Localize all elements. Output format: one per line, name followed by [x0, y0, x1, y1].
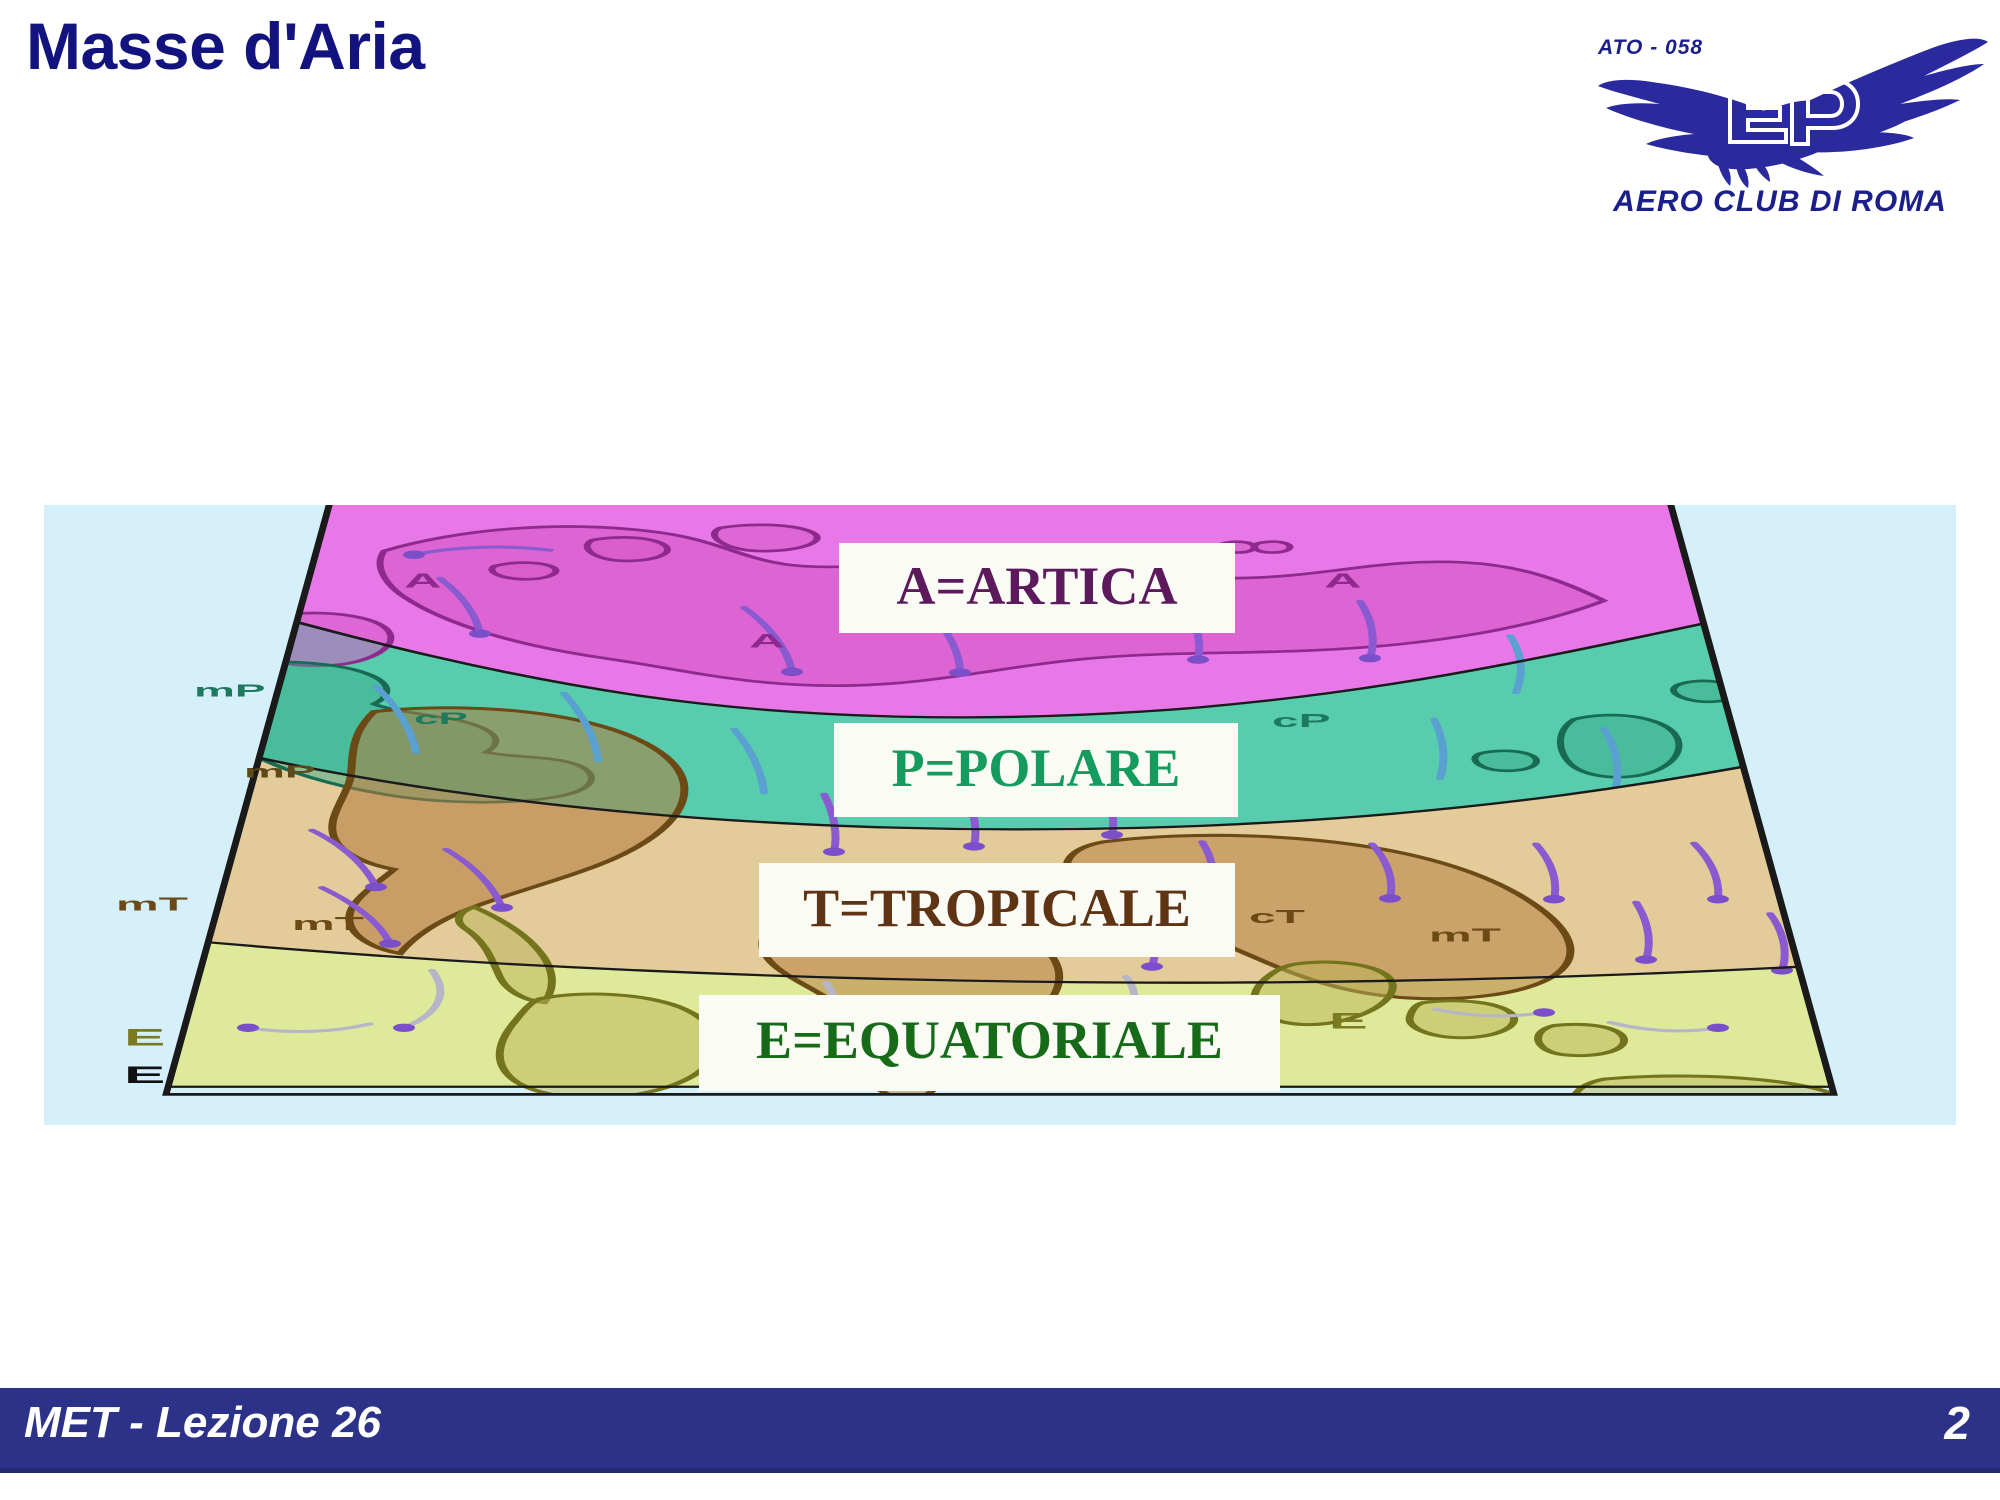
svg-text:cP: cP — [1272, 710, 1331, 731]
footer-band: MET - Lezione 26 2 — [0, 1388, 2000, 1473]
svg-text:A: A — [749, 631, 785, 652]
svg-text:E: E — [124, 1024, 165, 1050]
legend-polare: P=POLARE — [834, 723, 1238, 817]
legend-equatoriale: E=EQUATORIALE — [699, 995, 1280, 1091]
svg-text:E: E — [124, 1062, 165, 1088]
legend-artica: A=ARTICA — [839, 543, 1235, 633]
air-mass-map: A A A mP mP cP cP cP mT mT mT cI cT cT m… — [44, 505, 1956, 1125]
eagle-icon — [1580, 38, 1990, 188]
svg-text:A: A — [404, 570, 442, 592]
svg-text:cT: cT — [1249, 906, 1305, 927]
svg-text:mT: mT — [116, 894, 188, 915]
legend-tropicale: T=TROPICALE — [759, 863, 1235, 957]
page-title: Masse d'Aria — [26, 8, 425, 84]
aero-club-logo: ATO - 058 AERO CLUB DI ROMA — [1570, 20, 1990, 235]
svg-text:cP: cP — [414, 709, 468, 728]
page-number: 2 — [1944, 1396, 1970, 1450]
svg-text:mT: mT — [292, 913, 364, 934]
svg-text:mT: mT — [1429, 925, 1501, 946]
club-name-label: AERO CLUB DI ROMA — [1570, 185, 1990, 219]
svg-text:E: E — [1329, 1009, 1368, 1034]
svg-text:A: A — [1324, 570, 1362, 592]
svg-text:mP: mP — [194, 681, 266, 701]
svg-text:mP: mP — [244, 762, 316, 782]
footer-lesson-label: MET - Lezione 26 — [24, 1398, 381, 1448]
